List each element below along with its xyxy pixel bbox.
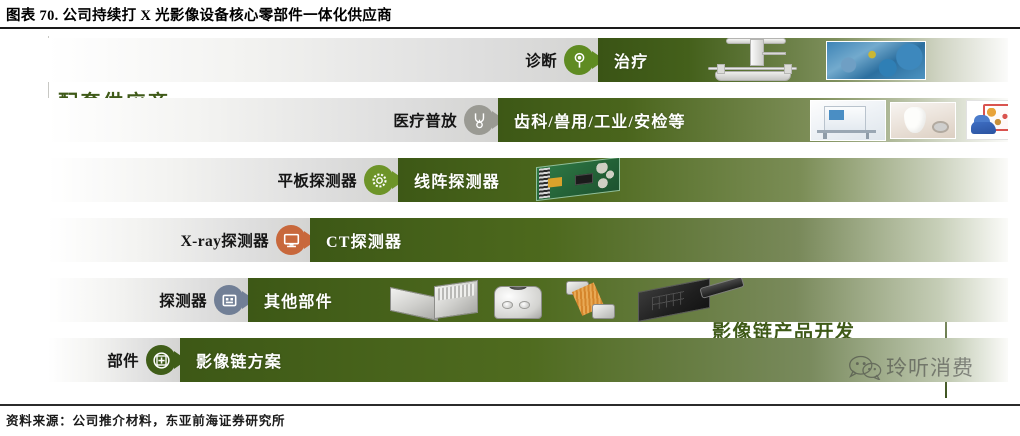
row-2-right-label: 齿科/兽用/工业/安检等 xyxy=(514,108,686,132)
row-4-left-stage[interactable]: X-ray探测器 xyxy=(48,218,310,262)
row-3-right-stage[interactable]: 线阵探测器 xyxy=(398,158,1008,202)
pyramid-row-4: X-ray探测器 CT探测器 xyxy=(48,218,1008,262)
stethoscope-icon[interactable] xyxy=(464,105,494,135)
row-5-right-stage[interactable]: 其他部件 xyxy=(248,278,1008,322)
row-2-left-stage[interactable]: 医疗普放 xyxy=(48,98,498,142)
row-5-left-label: 探测器 xyxy=(159,289,207,311)
plus-square-icon[interactable] xyxy=(146,345,176,375)
row-6-left-stage[interactable]: 部件 xyxy=(48,338,180,382)
row-1-right-label: 治疗 xyxy=(614,48,648,72)
row-2-right-stage[interactable]: 齿科/兽用/工业/安检等 xyxy=(498,98,1008,142)
flex-cable-module-photo xyxy=(566,280,624,322)
row-3-left-label: 平板探测器 xyxy=(277,169,357,191)
figure-title: 图表 70. 公司持续打 X 光影像设备核心零部件一体化供应商 xyxy=(0,4,392,25)
pyramid-row-2: 医疗普放 齿科/兽用/工业/安检等 xyxy=(48,98,1008,142)
row-3-right-label: 线阵探测器 xyxy=(414,168,500,192)
security-scanner-photo xyxy=(810,100,886,141)
row-2-left-label: 医疗普放 xyxy=(393,109,457,131)
pyramid-row-5: 探测器 其他部件 xyxy=(48,278,1008,322)
wechat-icon xyxy=(848,354,882,380)
row-6-right-label: 影像链方案 xyxy=(196,348,282,372)
row-5-right-label: 其他部件 xyxy=(264,288,333,312)
dental-tooth-photo xyxy=(890,102,956,139)
finned-module-photo xyxy=(434,280,478,319)
row-1-left-label: 诊断 xyxy=(525,49,557,71)
source-divider xyxy=(0,404,1020,406)
row-6-left-label: 部件 xyxy=(107,349,139,371)
watermark-text: 玲听消费 xyxy=(886,352,974,382)
watermark: 玲听消费 xyxy=(848,352,974,382)
pyramid-row-3: 平板探测器 线阵探测器 xyxy=(48,158,1008,202)
row-4-right-stage[interactable]: CT探测器 xyxy=(310,218,1008,262)
row-1-left-stage[interactable]: 诊断 xyxy=(48,38,598,82)
monitor-icon[interactable] xyxy=(276,225,306,255)
source-note: 资料来源：公司推介材料，东亚前海证券研究所 xyxy=(6,410,285,429)
pyramid-row-1: 诊断 治疗 xyxy=(48,38,1008,82)
gear-icon[interactable] xyxy=(364,165,394,195)
magnifier-probe-icon[interactable] xyxy=(564,45,594,75)
row-5-left-stage[interactable]: 探测器 xyxy=(48,278,248,322)
operating-room-photo xyxy=(826,41,926,80)
flat-panel-detector-photo xyxy=(638,278,710,322)
xray-tube-photo xyxy=(494,286,542,319)
figure-title-bar: 图表 70. 公司持续打 X 光影像设备核心零部件一体化供应商 xyxy=(0,0,1020,28)
detector-chip-icon[interactable] xyxy=(214,285,244,315)
row-1-right-stage[interactable]: 治疗 xyxy=(598,38,1008,82)
row-3-left-stage[interactable]: 平板探测器 xyxy=(48,158,398,202)
row-4-right-label: CT探测器 xyxy=(326,228,402,252)
linear-array-pcb-photo xyxy=(536,158,620,201)
angio-machine-illustration xyxy=(702,38,810,82)
metal-enclosure-photo xyxy=(390,287,438,321)
figure-canvas: 过去及现在 数字化探测器 配套供应商 未来 影像链产品开发 及方案解决供应商 诊… xyxy=(0,30,1020,402)
vehicle-scan-diagram xyxy=(966,100,1008,140)
figure-root: 图表 70. 公司持续打 X 光影像设备核心零部件一体化供应商 过去及现在 数字… xyxy=(0,0,1020,436)
title-divider xyxy=(0,27,1020,29)
row-4-left-label: X-ray探测器 xyxy=(181,229,269,251)
